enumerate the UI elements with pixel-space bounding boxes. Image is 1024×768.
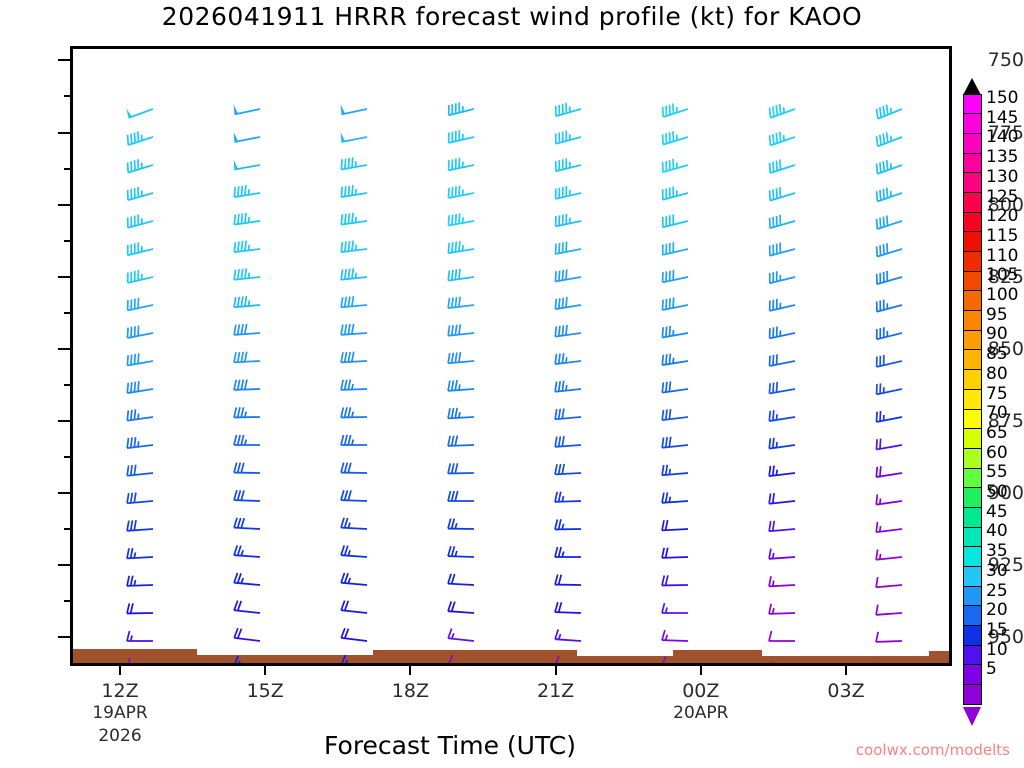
y-axis-tick-mark — [58, 348, 70, 350]
colorbar-cell — [963, 389, 982, 410]
page-title: 2026041911 HRRR forecast wind profile (k… — [0, 2, 1024, 31]
y-axis-tick-mark — [58, 564, 70, 566]
colorbar-cell — [963, 310, 982, 331]
colorbar-tick-label: 20 — [986, 600, 1008, 620]
colorbar-tick-label: 25 — [986, 581, 1008, 601]
colorbar-min-arrow — [963, 707, 981, 726]
y-axis-tick-mark — [58, 132, 70, 134]
x-axis-tick-mark — [119, 666, 121, 675]
y-axis-tick-mark — [58, 59, 70, 61]
colorbar-cell — [963, 349, 982, 370]
colorbar-cell — [963, 369, 982, 390]
colorbar-tick-label: 10 — [986, 640, 1008, 660]
x-axis-tick-mark — [409, 666, 411, 675]
x-axis-date-label: 19APR — [92, 703, 147, 723]
y-axis-tick-mark — [58, 636, 70, 638]
colorbar-cell — [963, 487, 982, 508]
colorbar-tick-label: 5 — [986, 659, 997, 679]
colorbar-cell — [963, 113, 982, 134]
colorbar-cell — [963, 271, 982, 292]
colorbar-tick-label: 90 — [986, 324, 1008, 344]
colorbar-tick-label: 45 — [986, 502, 1008, 522]
colorbar-tick-label: 60 — [986, 443, 1008, 463]
colorbar-tick-label: 125 — [986, 187, 1018, 207]
colorbar-tick-label: 40 — [986, 521, 1008, 541]
colorbar-cell — [963, 409, 982, 430]
colorbar-max-arrow — [963, 78, 981, 95]
colorbar-cell — [963, 428, 982, 449]
colorbar-cell — [963, 684, 982, 705]
plot-area — [70, 46, 952, 666]
colorbar-cell — [963, 586, 982, 607]
x-axis-tick-mark — [555, 666, 557, 675]
x-axis-tick-label: 18Z — [392, 680, 429, 702]
colorbar-cell — [963, 605, 982, 626]
y-axis-tick-mark — [58, 276, 70, 278]
colorbar-cell — [963, 290, 982, 311]
x-axis-tick-label: 00Z — [682, 680, 719, 702]
colorbar-tick-label: 110 — [986, 246, 1018, 266]
watermark: coolwx.com/modelts — [856, 741, 1010, 759]
colorbar-cell — [963, 566, 982, 587]
colorbar-tick-label: 35 — [986, 541, 1008, 561]
colorbar-tick-label: 140 — [986, 127, 1018, 147]
colorbar-tick-label: 95 — [986, 305, 1008, 325]
colorbar-tick-label: 65 — [986, 423, 1008, 443]
colorbar-tick-label: 30 — [986, 561, 1008, 581]
colorbar-tick-label: 115 — [986, 226, 1018, 246]
colorbar-cell — [963, 153, 982, 174]
x-axis-tick-label: 15Z — [247, 680, 284, 702]
x-axis-title: Forecast Time (UTC) — [0, 731, 900, 760]
colorbar-cell — [963, 212, 982, 233]
x-axis-tick-label: 12Z — [101, 680, 138, 702]
colorbar-cell — [963, 133, 982, 154]
y-axis-tick-label: 750 — [966, 49, 1024, 71]
x-axis-tick-label: 03Z — [827, 680, 864, 702]
colorbar-tick-label: 80 — [986, 364, 1008, 384]
y-axis-tick-mark — [58, 204, 70, 206]
colorbar-cell — [963, 546, 982, 567]
colorbar-tick-label: 145 — [986, 108, 1018, 128]
x-axis-tick-mark — [264, 666, 266, 675]
colorbar-tick-label: 75 — [986, 384, 1008, 404]
colorbar-tick-label: 15 — [986, 620, 1008, 640]
colorbar-tick-label: 150 — [986, 88, 1018, 108]
colorbar-tick-label: 105 — [986, 265, 1018, 285]
colorbar-cell — [963, 231, 982, 252]
colorbar-cell — [963, 172, 982, 193]
colorbar-cell — [963, 625, 982, 646]
x-axis-tick-label: 21Z — [537, 680, 574, 702]
colorbar-cell — [963, 192, 982, 213]
y-axis-tick-mark — [58, 492, 70, 494]
colorbar-cell — [963, 448, 982, 469]
colorbar-tick-label: 50 — [986, 482, 1008, 502]
colorbar-tick-label: 70 — [986, 403, 1008, 423]
y-axis-tick-mark — [58, 420, 70, 422]
x-axis-tick-mark — [845, 666, 847, 675]
colorbar-scale — [963, 95, 982, 705]
x-axis-date-label: 20APR — [673, 703, 728, 723]
colorbar-cell — [963, 251, 982, 272]
colorbar-cell — [963, 645, 982, 666]
colorbar-tick-label: 85 — [986, 344, 1008, 364]
colorbar-cell — [963, 468, 982, 489]
colorbar-tick-label: 55 — [986, 462, 1008, 482]
colorbar-cell — [963, 330, 982, 351]
terrain-segment — [929, 651, 952, 663]
colorbar-tick-label: 100 — [986, 285, 1018, 305]
colorbar-tick-label: 135 — [986, 147, 1018, 167]
colorbar-tick-label: 120 — [986, 206, 1018, 226]
colorbar-cell — [963, 527, 982, 548]
colorbar-tick-label: 130 — [986, 167, 1018, 187]
colorbar-cell — [963, 664, 982, 685]
colorbar-cell — [963, 94, 982, 115]
colorbar-cell — [963, 507, 982, 528]
x-axis-tick-mark — [700, 666, 702, 675]
